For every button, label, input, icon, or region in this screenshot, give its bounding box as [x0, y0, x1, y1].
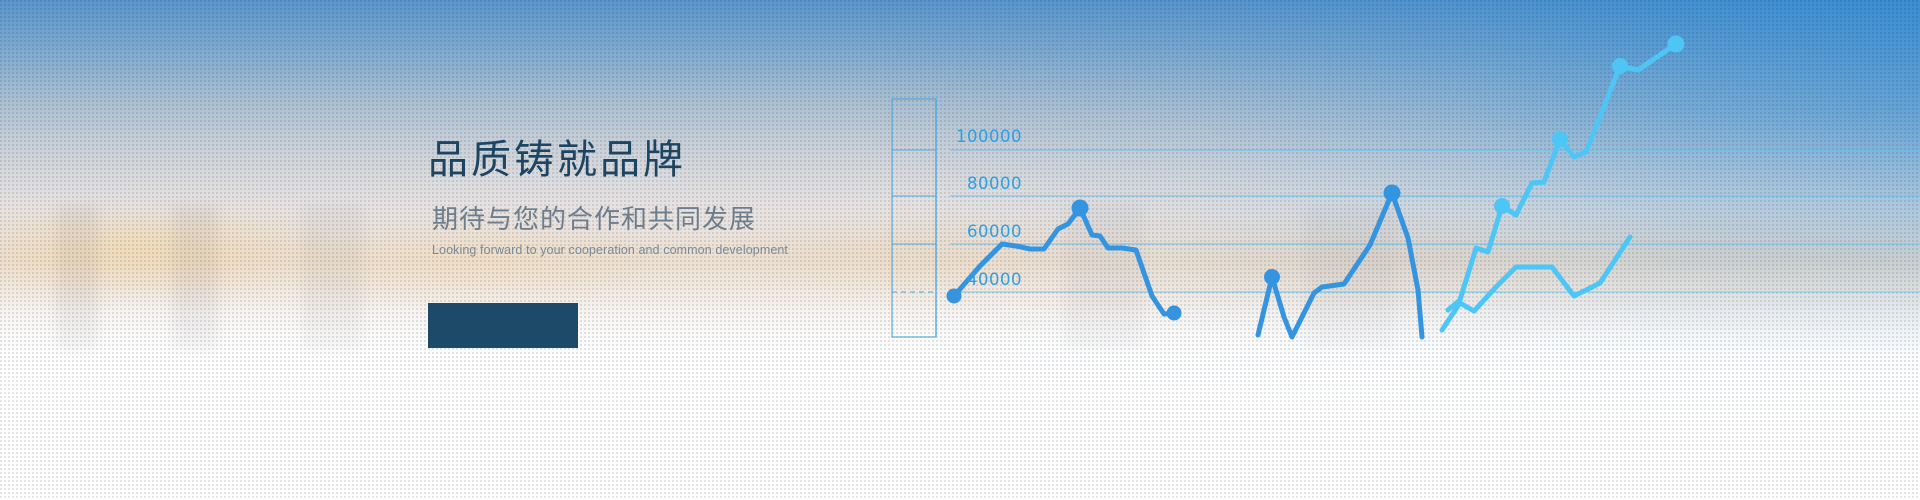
chart-y-axis-labels: 100000 80000 60000 40000	[940, 0, 1022, 500]
y-tick-100000: 100000	[956, 127, 1022, 146]
chart-series-3	[1448, 44, 1676, 310]
headline-block: 品质铸就品牌 期待与您的合作和共同发展 Looking forward to y…	[428, 140, 858, 257]
page-title: 品质铸就品牌	[428, 140, 858, 180]
y-tick-80000: 80000	[967, 174, 1022, 193]
y-tick-60000: 60000	[967, 222, 1022, 241]
promo-banner: 品质铸就品牌 期待与您的合作和共同发展 Looking forward to y…	[0, 0, 1920, 500]
chart-series-4	[1442, 237, 1630, 330]
chart-series-2	[1258, 193, 1422, 337]
line-chart	[940, 0, 1920, 500]
chart-series-2-markers	[1264, 185, 1401, 286]
subtitle-english: Looking forward to your cooperation and …	[432, 244, 858, 257]
chart-gridlines	[892, 150, 1920, 292]
y-tick-40000: 40000	[967, 270, 1022, 289]
subtitle-chinese: 期待与您的合作和共同发展	[432, 206, 858, 232]
chart-series-3-markers	[1494, 36, 1685, 215]
cta-button[interactable]	[428, 303, 578, 348]
